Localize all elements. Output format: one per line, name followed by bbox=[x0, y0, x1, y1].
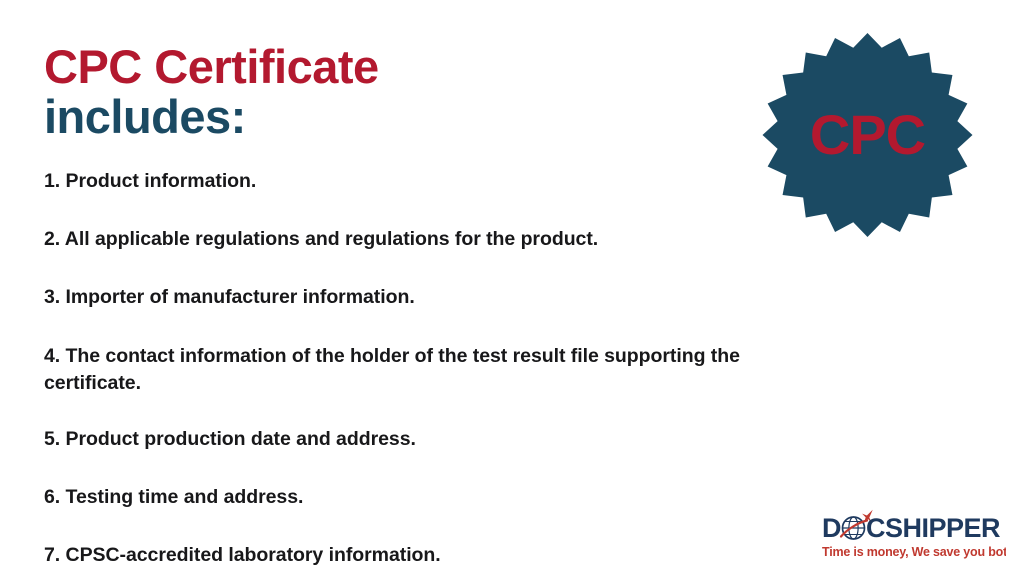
list-item: 5. Product production date and address. bbox=[44, 426, 754, 454]
title-line-secondary: includes: bbox=[44, 92, 684, 142]
slide-canvas: CPC Certificate includes: 1. Product inf… bbox=[0, 0, 1024, 576]
list-item: 6. Testing time and address. bbox=[44, 484, 754, 512]
cpc-seal-badge: CPC bbox=[760, 30, 975, 240]
list-item: 3. Importer of manufacturer information. bbox=[44, 284, 754, 312]
docshipper-logo: D CSHIPPER Time is money, We save you bo… bbox=[820, 505, 1006, 563]
seal-label: CPC bbox=[810, 103, 925, 166]
list-item: 2. All applicable regulations and regula… bbox=[44, 226, 754, 254]
list-item: 7. CPSC-accredited laboratory informatio… bbox=[44, 542, 754, 570]
logo-tagline: Time is money, We save you both! bbox=[822, 545, 1006, 559]
title-line-primary: CPC Certificate bbox=[44, 42, 684, 92]
requirements-list: 1. Product information. 2. All applicabl… bbox=[44, 168, 754, 570]
logo-brand-suffix: CSHIPPER bbox=[866, 513, 1000, 543]
globe-icon bbox=[841, 517, 867, 539]
logo-brand-prefix: D bbox=[822, 513, 841, 543]
list-item: 4. The contact information of the holder… bbox=[44, 343, 754, 398]
list-item: 1. Product information. bbox=[44, 168, 754, 196]
page-title: CPC Certificate includes: bbox=[44, 42, 684, 143]
